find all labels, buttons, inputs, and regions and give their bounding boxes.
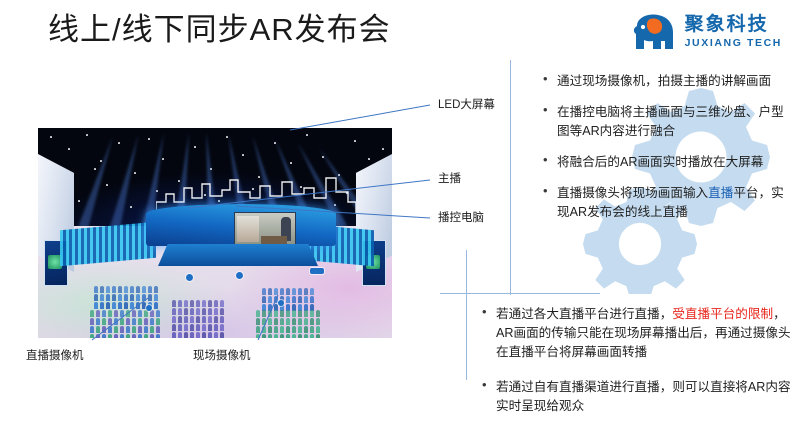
leader-live-camera — [92, 298, 148, 340]
bullet-marker — [482, 378, 496, 385]
bullet-item: 若通过各大直播平台进行直播，受直播平台的限制，AR画面的传输只能在现场屏幕播出后… — [482, 305, 794, 362]
bullet-item: 若通过自有直播渠道进行直播，则可以直接将AR内容实时呈现给观众 — [482, 378, 794, 416]
bullet-text-prefix: 若通过各大直播平台进行直播， — [496, 307, 672, 321]
elephant-logo-icon — [631, 12, 677, 52]
divider-horizontal — [440, 293, 600, 294]
bullet-text: 通过现场摄像机，拍摄主播的讲解画面 — [557, 72, 771, 91]
bullet-text: 将融合后的AR画面实时播放在大屏幕 — [557, 153, 763, 172]
callout-control-pc: 播控电脑 — [438, 211, 484, 225]
leader-led-screen — [290, 105, 430, 130]
slide-canvas: 线上/线下同步AR发布会 聚象科技 JUXIANG TECH — [0, 0, 800, 447]
bullet-marker — [543, 184, 557, 191]
leader-host — [188, 180, 430, 208]
bullet-text: 在播控电脑将主播画面与三维沙盘、户型图等AR内容进行融合 — [557, 103, 793, 141]
bullet-marker — [543, 72, 557, 79]
bullet-item: 直播摄像头将现场画面输入直播平台，实现AR发布会的线上直播 — [543, 184, 793, 222]
bullet-item: 将融合后的AR画面实时播放在大屏幕 — [543, 153, 793, 172]
bullet-item: 在播控电脑将主播画面与三维沙盘、户型图等AR内容进行融合 — [543, 103, 793, 141]
page-title: 线上/线下同步AR发布会 — [48, 8, 391, 52]
brand-logo: 聚象科技 JUXIANG TECH — [631, 12, 782, 52]
bullet-list-top: 通过现场摄像机，拍摄主播的讲解画面 在播控电脑将主播画面与三维沙盘、户型图等AR… — [543, 72, 793, 234]
callout-led-screen: LED大屏幕 — [438, 98, 495, 112]
divider-vertical-main — [510, 60, 511, 295]
bullet-text: 若通过自有直播渠道进行直播，则可以直接将AR内容实时呈现给观众 — [496, 378, 794, 416]
divider-vertical-short — [466, 250, 467, 380]
bullet-text: 若通过各大直播平台进行直播，受直播平台的限制，AR画面的传输只能在现场屏幕播出后… — [496, 305, 794, 362]
callout-live-camera: 直播摄像机 — [26, 349, 84, 363]
leader-onsite-camera — [258, 295, 278, 340]
callout-onsite-camera: 现场摄像机 — [193, 349, 251, 363]
bullet-marker — [543, 153, 557, 160]
logo-english-name: JUXIANG TECH — [685, 38, 782, 49]
leader-control-pc — [236, 206, 430, 218]
bullet-text-highlight: 直播 — [708, 186, 733, 200]
bullet-marker — [482, 305, 496, 312]
callout-host: 主播 — [438, 172, 461, 186]
bullet-text-highlight: 受直播平台的限制 — [672, 307, 773, 321]
logo-chinese-name: 聚象科技 — [685, 15, 782, 34]
bullet-text: 直播摄像头将现场画面输入直播平台，实现AR发布会的线上直播 — [557, 184, 793, 222]
bullet-marker — [543, 103, 557, 110]
bullet-item: 通过现场摄像机，拍摄主播的讲解画面 — [543, 72, 793, 91]
bullet-list-bottom: 若通过各大直播平台进行直播，受直播平台的限制，AR画面的传输只能在现场屏幕播出后… — [482, 305, 794, 432]
